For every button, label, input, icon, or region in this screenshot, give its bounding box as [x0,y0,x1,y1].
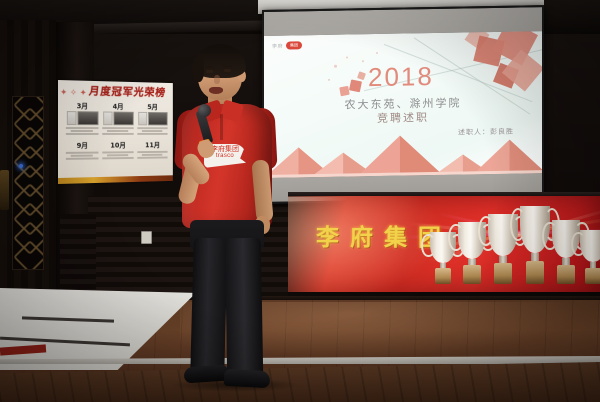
honor-roll-poster: ✦ ✧ ✦ 月度冠军光荣榜 3月 4月 5月 9月 10月 11月 [58,80,173,184]
poster-month-label: 9月 [64,142,100,150]
trouser-leg-left [190,238,228,377]
trophy-stem [499,256,507,263]
poster-month-cell: 9月 [64,142,100,161]
slide-dot [362,60,364,62]
shirt-placket [220,114,223,140]
trouser-leg-right [225,238,263,377]
slide-dot [346,56,348,58]
trophy-row [430,206,600,284]
trophy-base [463,265,480,284]
trophy-cup [580,230,600,262]
slide-dot [376,52,378,54]
slide-year: 2018 [368,61,434,92]
eye-left [206,70,213,73]
poster-month-cell: 10月 [100,142,135,161]
poster-photo-wide [148,112,167,125]
wall-sconce-light [0,170,9,210]
hair-sideburn [192,56,204,82]
poster-text-lines [136,151,170,159]
poster-flourish-icon: ✦ ✧ ✦ [60,85,89,99]
presenter-figure: 李府集团 trasco [176,48,286,388]
mouth-open-speaking [209,87,223,94]
poster-month-label: 4月 [100,103,135,111]
trophy-base [585,268,600,284]
decorative-lattice-panel [12,96,44,270]
trophy-stem [562,258,569,264]
photo-scene: ✦ ✧ ✦ 月度冠军光荣榜 3月 4月 5月 9月 10月 11月 [0,0,600,402]
trophy-base [526,261,545,284]
poster-text-lines [136,127,170,135]
poster-text-lines [64,152,100,160]
trophy-base [435,268,451,284]
blue-led-indicator [19,164,23,168]
poster-photo-group [100,111,135,125]
slide-subtitle-line2: 竞聘述职 [264,107,542,128]
light-switch-plate[interactable] [141,231,152,244]
nose [214,75,220,84]
trophy-base [557,265,574,284]
poster-photo-portrait [138,112,147,125]
poster-month-label: 11月 [136,141,170,149]
poster-photo-wide [77,111,98,125]
chest-logo-english: trasco [216,153,234,160]
trophy-base [494,263,513,284]
poster-month-cell: 4月 [100,103,135,136]
poster-photo-portrait [103,111,112,125]
slide-square-accent [349,79,362,92]
poster-photo-portrait [66,111,76,125]
projector-screen: 李府 集团 2018 农大东苑、滁州学院 竞聘述职 述职人：彭良胜 [262,5,544,204]
slide-square-accent [339,86,349,97]
eyebrow-left [205,66,214,68]
shoe-right [224,369,271,388]
poster-month-cell: 5月 [136,103,170,136]
slide-logo-mark: 集团 [286,41,302,49]
poster-text-lines [100,151,135,159]
poster-text-lines [64,127,100,135]
poster-title: 月度冠军光荣榜 [88,84,172,101]
slide-square-accent [357,71,366,80]
poster-month-label: 5月 [136,103,170,111]
poster-month-cell: 3月 [64,102,100,136]
poster-photo-wide [113,112,133,126]
trophy [580,230,600,284]
slide-content: 李府 集团 2018 农大东苑、滁州学院 竞聘述职 述职人：彭良胜 [264,31,542,178]
slide-dot [328,79,330,81]
eye-right [224,69,231,72]
poster-photo-group [136,112,170,126]
shoe-left [183,364,228,383]
slide-mountain-graphic [264,127,542,178]
trophy-stem [590,262,597,267]
slide-dot [334,65,337,68]
eyebrow-right [223,65,232,67]
poster-photo-group [64,111,100,125]
poster-month-label: 3月 [64,102,100,110]
poster-month-cell: 11月 [136,141,170,159]
poster-text-lines [100,127,135,135]
poster-month-label: 10月 [100,142,135,150]
chest-logo-chinese: 李府集团 [211,145,239,153]
trophy-stem [531,253,539,261]
